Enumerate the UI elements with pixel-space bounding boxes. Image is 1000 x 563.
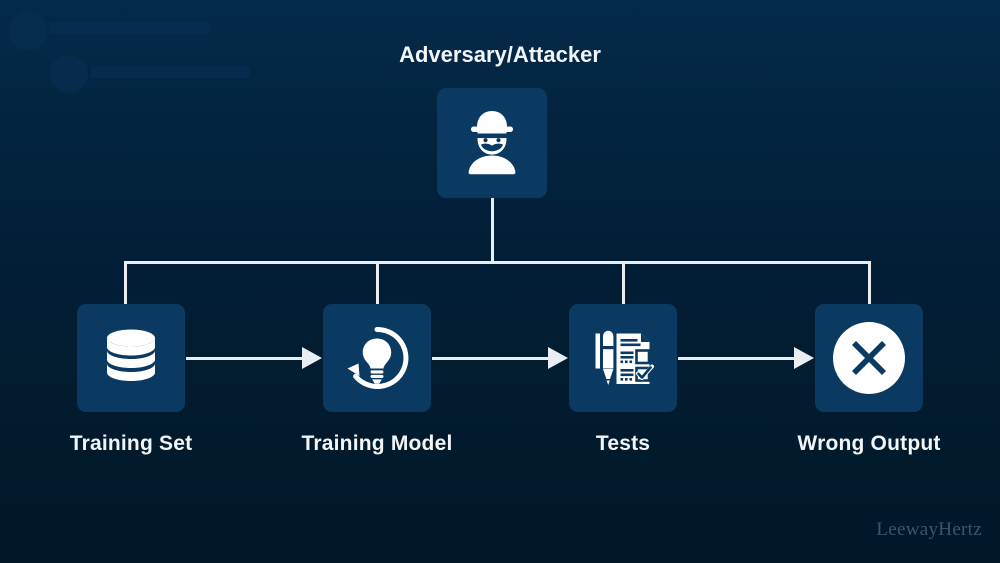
arrow-training-model-to-tests: [432, 347, 568, 369]
arrow-head-icon: [548, 347, 568, 369]
arrow-head-icon: [302, 347, 322, 369]
arrow-head-icon: [794, 347, 814, 369]
node-training-model-box[interactable]: [323, 304, 431, 412]
arrow-shaft: [432, 357, 548, 360]
circle-x-icon: [831, 320, 907, 396]
node-tests-box[interactable]: [569, 304, 677, 412]
node-tests-label: Tests: [596, 432, 650, 456]
connector-drop-wrong-output: [868, 261, 871, 305]
connector-drop-tests: [622, 261, 625, 305]
connector-bracket-horizontal: [124, 261, 871, 264]
node-wrong-output-box[interactable]: [815, 304, 923, 412]
decorative-bar-1: [50, 22, 210, 34]
arrow-tests-to-wrong-output: [678, 347, 814, 369]
node-training-set-label: Training Set: [70, 432, 193, 456]
arrow-training-set-to-training-model: [186, 347, 322, 369]
attacker-person-icon: [456, 105, 528, 182]
node-training-set-box[interactable]: [77, 304, 185, 412]
arrow-shaft: [678, 357, 794, 360]
page-title: Adversary/Attacker: [0, 42, 1000, 68]
database-icon: [98, 325, 164, 391]
lightbulb-refresh-icon: [343, 324, 411, 392]
node-training-model-label: Training Model: [302, 432, 453, 456]
node-wrong-output-label: Wrong Output: [797, 432, 940, 456]
brand-watermark: LeewayHertz: [876, 519, 982, 541]
node-adversary-attacker[interactable]: [437, 88, 547, 198]
checklist-pen-icon: [589, 324, 657, 392]
arrow-shaft: [186, 357, 302, 360]
connector-drop-training-model: [376, 261, 379, 305]
connector-root-stem: [491, 198, 494, 263]
connector-drop-training-set: [124, 261, 127, 305]
diagram-canvas: Adversary/Attacker: [0, 0, 1000, 563]
